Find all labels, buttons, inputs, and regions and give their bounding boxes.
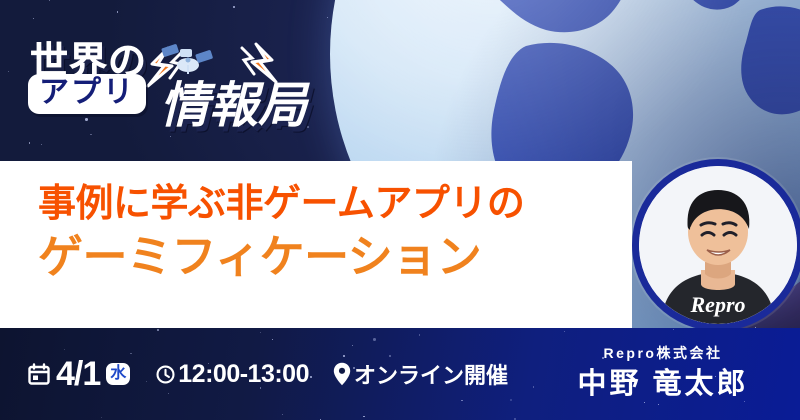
program-logo: 世界の アプリ 情報局 [18,18,308,126]
speaker-avatar: Repro [632,159,800,331]
event-date: 4/1 [56,357,100,391]
speaker-info: Repro株式会社 中野 竜太郎 [548,344,778,404]
logo-badge-label: アプリ [39,77,135,109]
clock-icon [156,365,175,384]
title-line-2: ゲーミフィケーション [38,229,618,286]
event-meta: 4/1 水 12:00-13:00 オンライン開催 [28,350,508,398]
title-band: 事例に学ぶ非ゲームアプリの ゲーミフィケーション [0,161,632,328]
speaker-company: Repro株式会社 [548,344,778,364]
svg-text:Repro: Repro [690,292,746,317]
logo-line-2: 情報局 [160,66,307,137]
title-line-1: 事例に学ぶ非ゲームアプリの [38,181,618,227]
title-block: 事例に学ぶ非ゲームアプリの ゲーミフィケーション [38,181,618,286]
event-day-of-week: 水 [106,363,130,385]
event-time: 12:00-13:00 [178,360,309,389]
event-footer: 4/1 水 12:00-13:00 オンライン開催 Repro株式会社 中野 竜… [0,328,800,420]
webinar-banner: 世界の アプリ 情報局 事例に学ぶ非ゲームアプリの ゲーミフィケーション [0,0,800,420]
speaker-photo: Repro [639,166,797,324]
event-venue: オンライン開催 [354,358,508,390]
logo-badge-box: アプリ [28,74,146,114]
speaker-name: 中野 竜太郎 [548,365,778,404]
speaker-portrait-illustration: Repro [639,166,797,324]
map-pin-icon [333,362,351,386]
calendar-icon [28,363,50,385]
